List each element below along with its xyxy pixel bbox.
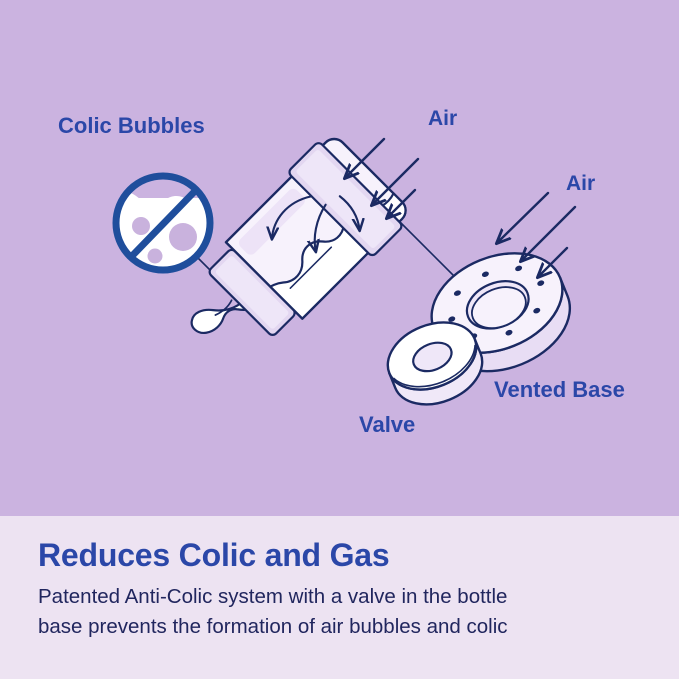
bubble [132,217,150,235]
label-air-right: Air [566,172,595,195]
caption-body-line-2: base prevents the formation of air bubbl… [38,612,638,642]
illustration-svg: Colic Bubbles Air Air Valve Vented Base [0,0,679,516]
caption-headline: Reduces Colic and Gas [38,538,655,573]
label-vented-base: Vented Base [494,377,625,402]
illustration-scene: Colic Bubbles Air Air Valve Vented Base [0,0,679,516]
illustration-panel: Colic Bubbles Air Air Valve Vented Base [0,0,679,516]
caption-panel: Reduces Colic and Gas Patented Anti-Coli… [0,516,679,679]
infographic-card: Colic Bubbles Air Air Valve Vented Base … [0,0,679,679]
label-valve: Valve [359,412,415,437]
no-colic-bubbles-icon [113,176,213,276]
label-colic-bubbles: Colic Bubbles [58,113,205,138]
bubble [148,249,163,264]
label-air-top: Air [428,107,457,130]
bubble [169,223,197,251]
caption-inner: Reduces Colic and Gas Patented Anti-Coli… [38,538,655,642]
caption-body-line-1: Patented Anti-Colic system with a valve … [38,582,638,612]
